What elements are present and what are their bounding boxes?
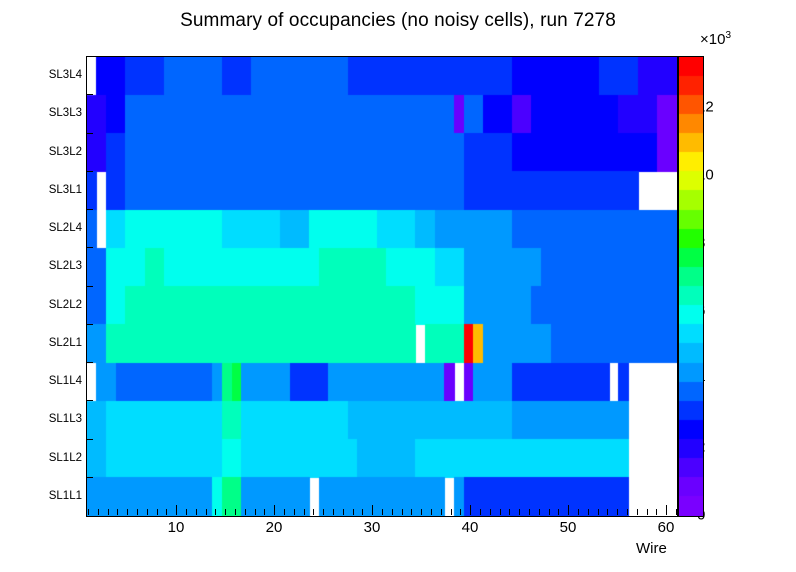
y-axis-label-sl1l1: SL1L1 (22, 490, 82, 502)
y-axis-label-sl1l4: SL1L4 (22, 375, 82, 387)
colorbar[interactable] (678, 56, 704, 517)
y-axis-label-sl2l2: SL2L2 (22, 299, 82, 311)
heatmap-plot-area[interactable] (86, 56, 678, 517)
y-axis-label-sl1l2: SL1L2 (22, 452, 82, 464)
y-axis-label-sl2l1: SL2L1 (22, 337, 82, 349)
y-axis-label-sl3l1: SL3L1 (22, 184, 82, 196)
x-axis-tick-label-30: 30 (364, 519, 381, 536)
x-axis-title: Wire (636, 540, 667, 557)
colorbar-exponent: 3 (725, 30, 731, 41)
x-axis-tick-label-20: 20 (266, 519, 283, 536)
colorbar-multiplier: ×103 (700, 30, 731, 48)
y-axis-label-sl3l4: SL3L4 (22, 69, 82, 81)
plot-page: Summary of occupancies (no noisy cells),… (0, 0, 796, 572)
y-axis-label-sl3l3: SL3L3 (22, 107, 82, 119)
y-axis-label-sl2l3: SL2L3 (22, 260, 82, 272)
x-axis-tick-label-40: 40 (462, 519, 479, 536)
y-axis-label-sl2l4: SL2L4 (22, 222, 82, 234)
x-axis-tick-label-60: 60 (658, 519, 675, 536)
page-title: Summary of occupancies (no noisy cells),… (0, 10, 796, 32)
heatmap-canvas[interactable] (87, 57, 677, 516)
y-axis-labels: SL3L4SL3L3SL3L2SL3L1SL2L4SL2L3SL2L2SL2L1… (18, 56, 82, 515)
y-axis-label-sl1l3: SL1L3 (22, 413, 82, 425)
x-axis-tick-label-50: 50 (560, 519, 577, 536)
x-axis-tick-label-10: 10 (168, 519, 185, 536)
y-axis-label-sl3l2: SL3L2 (22, 146, 82, 158)
colorbar-gradient (679, 57, 703, 516)
